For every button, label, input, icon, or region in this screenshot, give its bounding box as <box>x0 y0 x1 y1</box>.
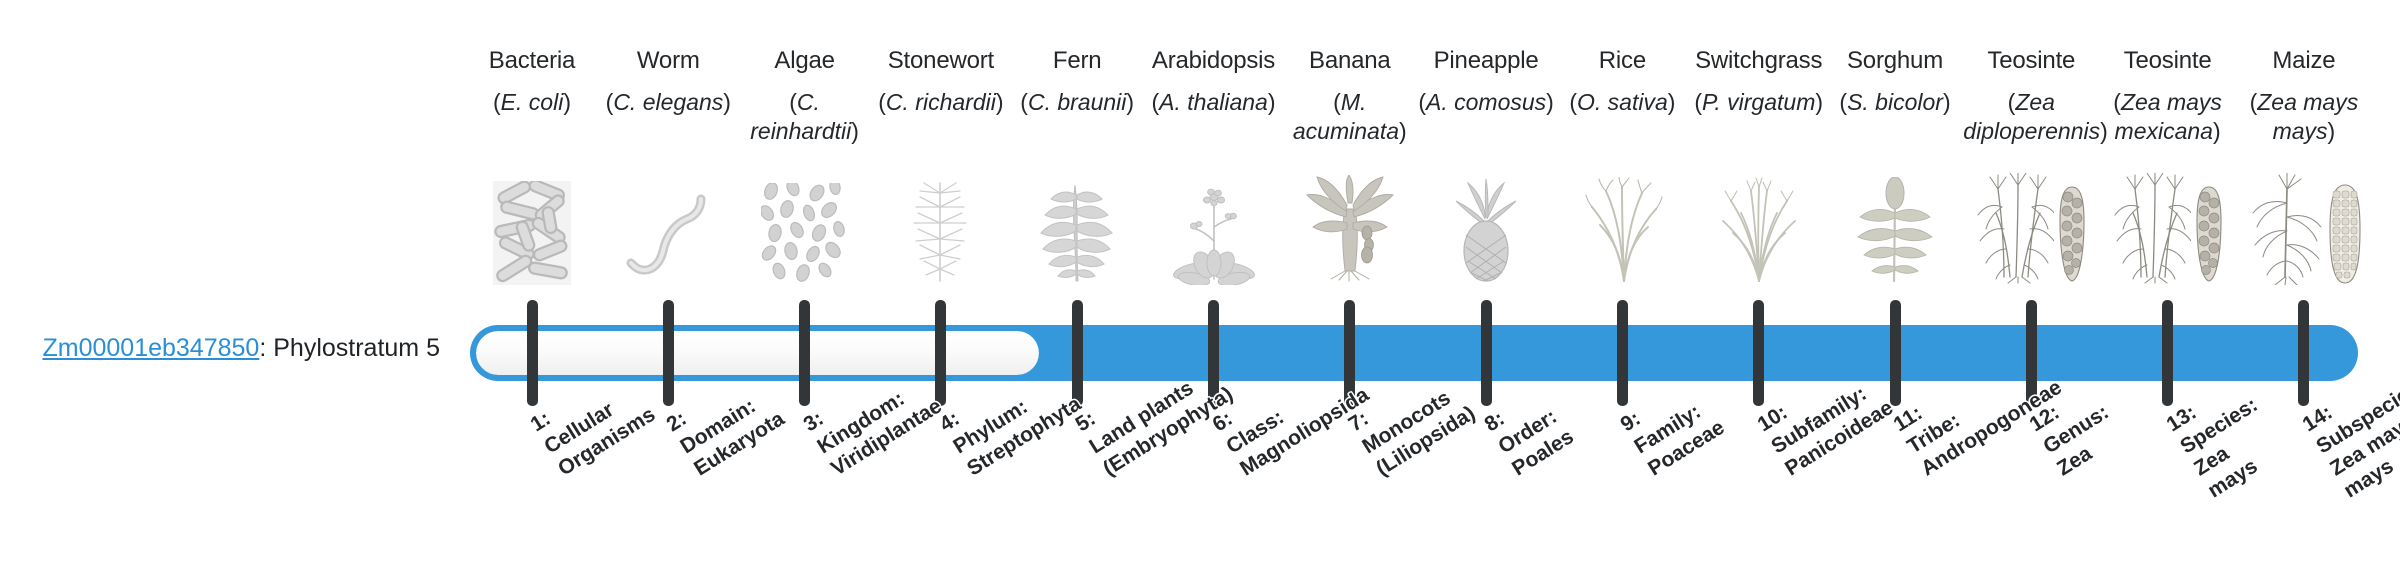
species-scientific-name-text: C. braunii <box>1028 89 1126 115</box>
species-scientific-name-text: C. elegans <box>613 89 723 115</box>
species-column-rice-8: Rice(O. sativa) <box>1554 46 1690 117</box>
species-column-teosinte-12: Teosinte(Zea mays mexicana) <box>2100 46 2236 146</box>
species-common-name: Sorghum <box>1827 46 1963 76</box>
species-columns: Bacteria(E. coli)Worm(C. elegans)Algae(C… <box>0 0 2400 580</box>
species-common-name: Teosinte <box>2100 46 2236 76</box>
algae-icon <box>737 160 873 285</box>
species-scientific-name: (A. comosus) <box>1418 88 1554 117</box>
species-scientific-name-text: S. bicolor <box>1847 89 1943 115</box>
phylostratigraphy-panel: Zm00001eb347850: Phylostratum 5 Bacteria… <box>0 0 2400 580</box>
species-column-worm-1: Worm(C. elegans) <box>600 46 736 117</box>
species-common-name: Teosinte <box>1963 46 2099 76</box>
species-scientific-name-text: Zea mays mexicana <box>2115 89 2222 144</box>
species-column-stonewort-3: Stonewort(C. richardii) <box>873 46 1009 117</box>
species-scientific-name: (M. acuminata) <box>1282 88 1418 146</box>
species-common-name: Bacteria <box>464 46 600 76</box>
sorghum-icon <box>1827 160 1963 285</box>
species-scientific-name-text: O. sativa <box>1577 89 1668 115</box>
fern-icon <box>1009 160 1145 285</box>
species-scientific-name-text: M. acuminata <box>1293 89 1399 144</box>
species-common-name: Switchgrass <box>1691 46 1827 76</box>
species-scientific-name: (Zea diploperennis) <box>1963 88 2099 146</box>
species-scientific-name-text: C. reinhardtii <box>750 89 851 144</box>
species-common-name: Algae <box>737 46 873 76</box>
arabidopsis-icon <box>1146 160 1282 285</box>
species-column-bacteria-0: Bacteria(E. coli) <box>464 46 600 117</box>
species-scientific-name: (A. thaliana) <box>1146 88 1282 117</box>
species-scientific-name-text: P. virgatum <box>1702 89 1815 115</box>
species-column-sorghum-10: Sorghum(S. bicolor) <box>1827 46 1963 117</box>
species-column-maize-13: Maize(Zea mays mays) <box>2236 46 2372 146</box>
species-scientific-name-text: A. comosus <box>1426 89 1546 115</box>
maize-icon <box>2236 160 2372 285</box>
pineapple-icon <box>1418 160 1554 285</box>
species-column-arabidopsis-5: Arabidopsis(A. thaliana) <box>1146 46 1282 117</box>
species-scientific-name: (C. reinhardtii) <box>737 88 873 146</box>
species-scientific-name: (C. braunii) <box>1009 88 1145 117</box>
species-scientific-name: (O. sativa) <box>1554 88 1690 117</box>
switchgrass-icon <box>1691 160 1827 285</box>
species-scientific-name-text: Zea diploperennis <box>1963 89 2100 144</box>
species-column-switchgrass-9: Switchgrass(P. virgatum) <box>1691 46 1827 117</box>
species-common-name: Banana <box>1282 46 1418 76</box>
species-scientific-name: (S. bicolor) <box>1827 88 1963 117</box>
bacteria-icon <box>464 160 600 285</box>
species-column-pineapple-7: Pineapple(A. comosus) <box>1418 46 1554 117</box>
species-column-algae-2: Algae(C. reinhardtii) <box>737 46 873 146</box>
species-scientific-name-text: Zea mays mays <box>2257 89 2358 144</box>
tick-mark-1 <box>527 300 538 406</box>
rice-icon <box>1554 160 1690 285</box>
species-scientific-name: (Zea mays mexicana) <box>2100 88 2236 146</box>
teosinte-mexicana-icon <box>2100 160 2236 285</box>
stonewort-icon <box>873 160 1009 285</box>
species-scientific-name: (C. richardii) <box>873 88 1009 117</box>
species-common-name: Rice <box>1554 46 1690 76</box>
species-scientific-name: (E. coli) <box>464 88 600 117</box>
species-scientific-name: (Zea mays mays) <box>2236 88 2372 146</box>
species-common-name: Arabidopsis <box>1146 46 1282 76</box>
species-scientific-name-text: C. richardii <box>886 89 996 115</box>
species-common-name: Maize <box>2236 46 2372 76</box>
species-scientific-name: (P. virgatum) <box>1691 88 1827 117</box>
species-common-name: Fern <box>1009 46 1145 76</box>
species-scientific-name-text: E. coli <box>501 89 564 115</box>
species-column-fern-4: Fern(C. braunii) <box>1009 46 1145 117</box>
species-column-teosinte-11: Teosinte(Zea diploperennis) <box>1963 46 2099 146</box>
species-common-name: Stonewort <box>873 46 1009 76</box>
teosinte-diploperennis-icon <box>1963 160 2099 285</box>
species-common-name: Pineapple <box>1418 46 1554 76</box>
species-scientific-name: (C. elegans) <box>600 88 736 117</box>
worm-icon <box>600 160 736 285</box>
species-column-banana-6: Banana(M. acuminata) <box>1282 46 1418 146</box>
species-common-name: Worm <box>600 46 736 76</box>
species-scientific-name-text: A. thaliana <box>1159 89 1268 115</box>
banana-icon <box>1282 160 1418 285</box>
